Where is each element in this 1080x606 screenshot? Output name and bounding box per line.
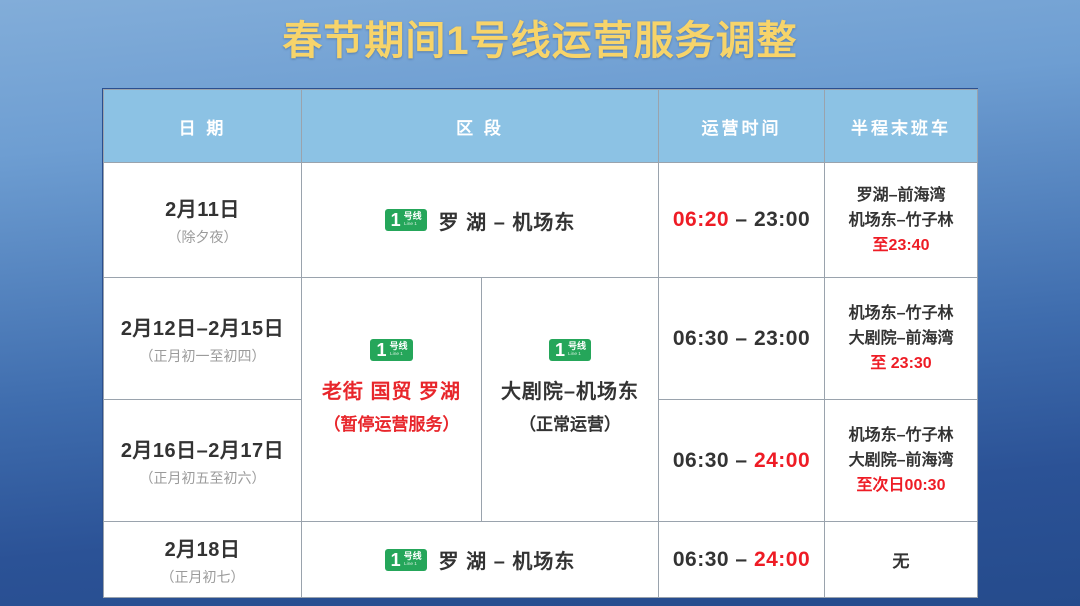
time-start: 06:20 <box>673 208 729 231</box>
last-train-line: 机场东–竹子林 <box>825 423 977 448</box>
table-row: 2月12日–2月15日 （正月初一至初四） 1 号线 Line 1 <box>104 278 978 400</box>
line-badge-en: Line 1 <box>390 351 403 358</box>
cell-section-suspended: 1 号线 Line 1 老街 国贸 罗湖 （暂停运营服务） <box>302 278 482 522</box>
cell-half-last-train: 罗湖–前海湾 机场东–竹子林 至23:40 <box>825 163 978 278</box>
column-header-half-last-train: 半程末班车 <box>825 90 978 163</box>
column-header-section: 区 段 <box>302 90 659 163</box>
cell-operating-time: 06:30 – 24:00 <box>659 522 825 598</box>
line-badge-cn: 号线 <box>390 342 408 351</box>
last-train-none: 无 <box>893 552 910 571</box>
table-row: 2月11日 （除夕夜） 1 号线 Line 1 <box>104 163 978 278</box>
cell-date: 2月16日–2月17日 （正月初五至初六） <box>104 400 302 522</box>
column-header-date: 日 期 <box>104 90 302 163</box>
line-badge-cn: 号线 <box>404 212 422 221</box>
time-start: 06:30 <box>673 449 729 472</box>
last-train-line: 至23:40 <box>825 233 977 258</box>
last-train-line: 至次日00:30 <box>825 473 977 498</box>
schedule-table: 日 期 区 段 运营时间 半程末班车 2月11日 （除夕夜） <box>103 89 978 598</box>
cell-operating-time: 06:20 – 23:00 <box>659 163 825 278</box>
schedule-table-container: 日 期 区 段 运营时间 半程末班车 2月11日 （除夕夜） <box>102 88 978 595</box>
date-sub: （正月初七） <box>104 567 301 587</box>
date-main: 2月11日 <box>104 193 301 222</box>
cell-date: 2月11日 （除夕夜） <box>104 163 302 278</box>
date-sub: （除夕夜） <box>104 227 301 247</box>
time-end: 24:00 <box>754 548 810 571</box>
line-badge-en: Line 1 <box>568 351 581 358</box>
time-separator: – <box>729 548 754 571</box>
time-separator: – <box>729 208 754 231</box>
operating-time: 06:30 – 24:00 <box>673 449 810 472</box>
date-main: 2月16日–2月17日 <box>104 434 301 463</box>
time-end: 23:00 <box>754 327 810 350</box>
time-separator: – <box>729 327 754 350</box>
suspended-note: （暂停运营服务） <box>324 410 460 435</box>
section-text: 罗 湖 – 机场东 <box>439 545 576 574</box>
operating-time: 06:20 – 23:00 <box>673 208 810 231</box>
date-main: 2月18日 <box>104 533 301 562</box>
table-row: 2月18日 （正月初七） 1 号线 Line 1 <box>104 522 978 598</box>
time-end: 24:00 <box>754 449 810 472</box>
line-1-badge-icon: 1 号线 Line 1 <box>385 549 427 571</box>
last-train-line: 机场东–竹子林 <box>825 301 977 326</box>
cell-date: 2月12日–2月15日 （正月初一至初四） <box>104 278 302 400</box>
line-1-badge-icon: 1 号线 Line 1 <box>370 339 412 361</box>
column-header-operating-time: 运营时间 <box>659 90 825 163</box>
header-row: 日 期 区 段 运营时间 半程末班车 <box>104 90 978 163</box>
line-badge-cn: 号线 <box>568 342 586 351</box>
suspended-stations: 老街 国贸 罗湖 <box>322 375 461 404</box>
line-1-badge-icon: 1 号线 Line 1 <box>549 339 591 361</box>
line-badge-en: Line 1 <box>404 561 417 568</box>
section-text: 罗 湖 – 机场东 <box>439 206 576 235</box>
table-header: 日 期 区 段 运营时间 半程末班车 <box>104 90 978 163</box>
date-main: 2月12日–2月15日 <box>104 312 301 341</box>
page-title: 春节期间1号线运营服务调整 <box>0 14 1080 68</box>
last-train-line: 罗湖–前海湾 <box>825 183 977 208</box>
poster-root: 春节期间1号线运营服务调整 日 期 区 段 运营时间 半程末班车 2月11日 <box>0 0 1080 606</box>
last-train-line: 至 23:30 <box>825 351 977 376</box>
operating-time: 06:30 – 24:00 <box>673 548 810 571</box>
time-separator: – <box>729 449 754 472</box>
cell-section: 1 号线 Line 1 罗 湖 – 机场东 <box>302 522 659 598</box>
line-badge-number: 1 <box>391 551 401 569</box>
cell-half-last-train: 机场东–竹子林 大剧院–前海湾 至 23:30 <box>825 278 978 400</box>
operating-time: 06:30 – 23:00 <box>673 327 810 350</box>
cell-operating-time: 06:30 – 24:00 <box>659 400 825 522</box>
line-badge-number: 1 <box>555 341 565 359</box>
time-start: 06:30 <box>673 548 729 571</box>
line-badge-en: Line 1 <box>404 221 417 228</box>
date-sub: （正月初五至初六） <box>104 468 301 488</box>
last-train-line: 大剧院–前海湾 <box>825 448 977 473</box>
normal-note: （正常运营） <box>519 410 621 435</box>
line-badge-cn: 号线 <box>404 552 422 561</box>
date-sub: （正月初一至初四） <box>104 346 301 366</box>
normal-stations: 大剧院–机场东 <box>501 375 639 404</box>
line-badge-number: 1 <box>391 211 401 229</box>
cell-section: 1 号线 Line 1 罗 湖 – 机场东 <box>302 163 659 278</box>
time-end: 23:00 <box>754 208 810 231</box>
last-train-line: 机场东–竹子林 <box>825 208 977 233</box>
cell-half-last-train: 机场东–竹子林 大剧院–前海湾 至次日00:30 <box>825 400 978 522</box>
cell-section-normal: 1 号线 Line 1 大剧院–机场东 （正常运营） <box>482 278 659 522</box>
cell-half-last-train: 无 <box>825 522 978 598</box>
table-body: 2月11日 （除夕夜） 1 号线 Line 1 <box>104 163 978 598</box>
line-badge-number: 1 <box>376 341 386 359</box>
cell-date: 2月18日 （正月初七） <box>104 522 302 598</box>
cell-operating-time: 06:30 – 23:00 <box>659 278 825 400</box>
line-1-badge-icon: 1 号线 Line 1 <box>385 209 427 231</box>
time-start: 06:30 <box>673 327 729 350</box>
last-train-line: 大剧院–前海湾 <box>825 326 977 351</box>
